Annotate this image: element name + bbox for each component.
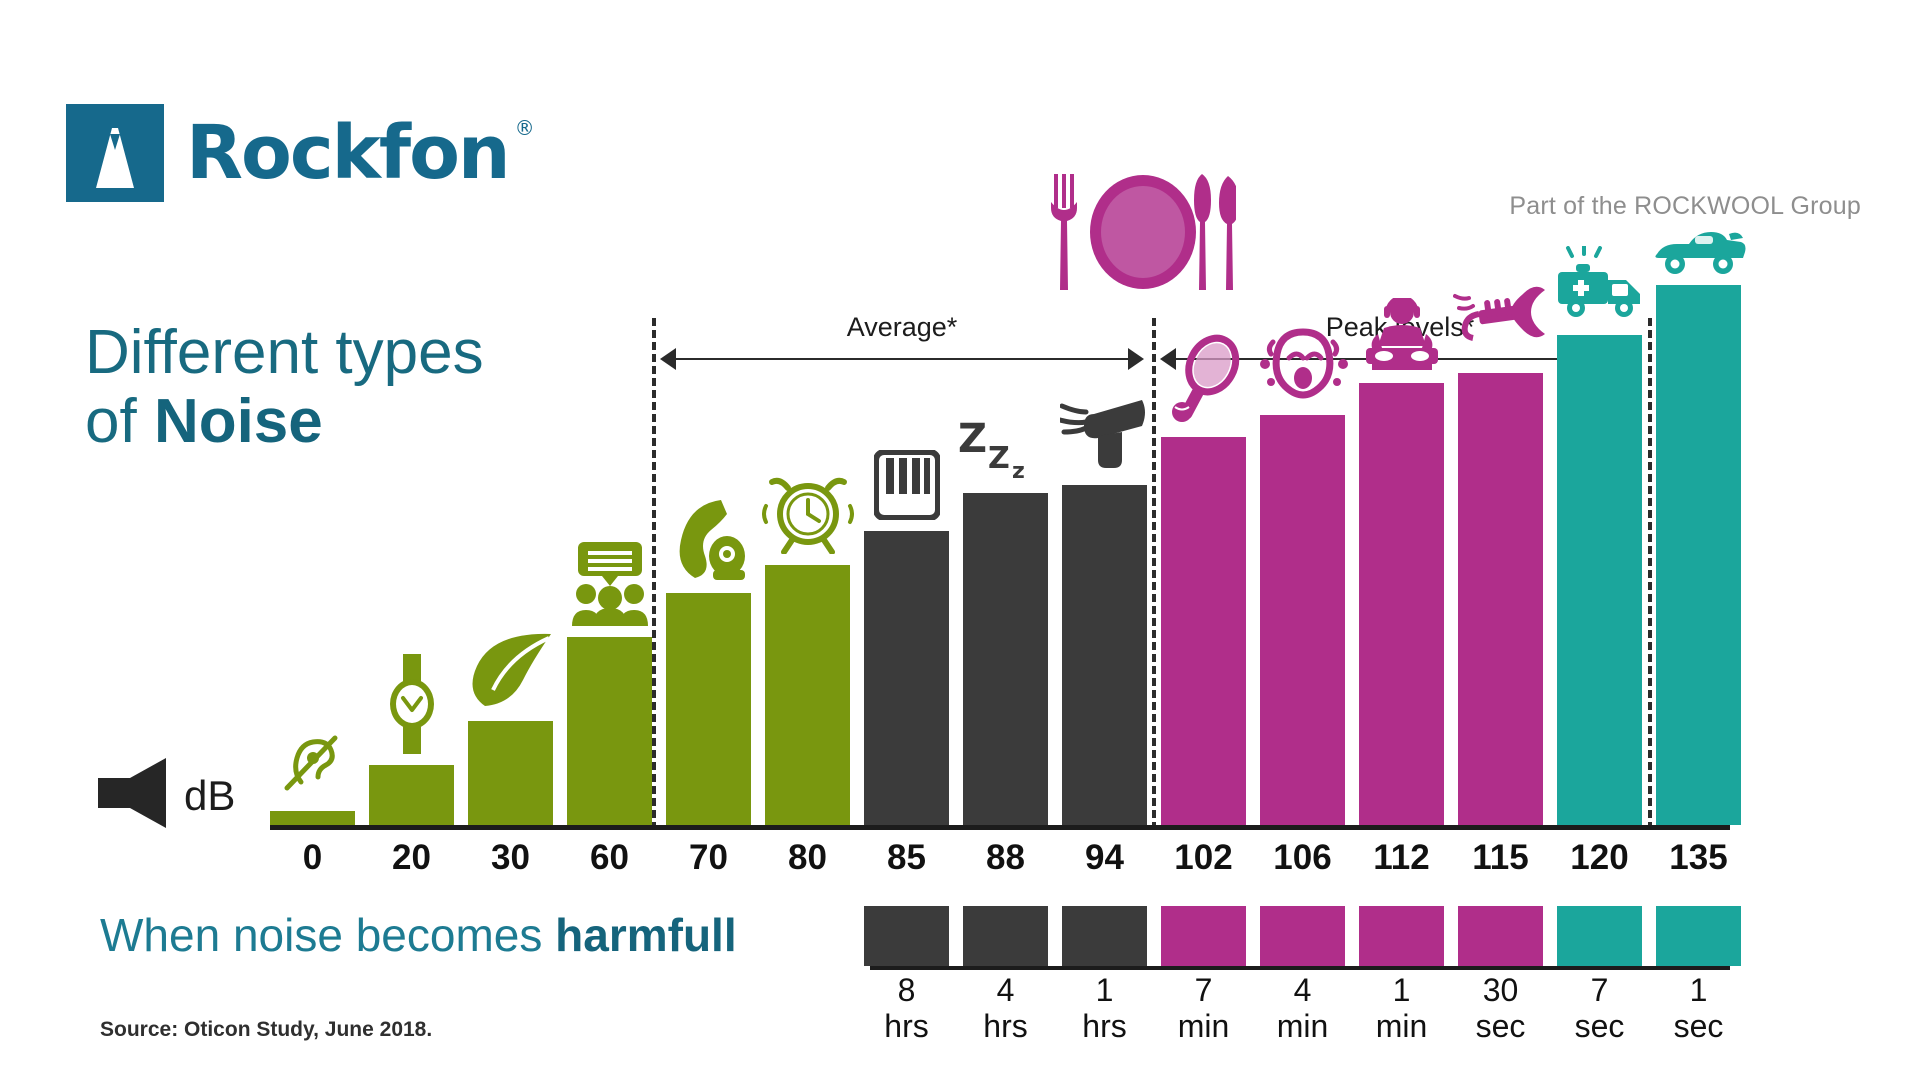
svg-text:Z: Z [958,418,987,462]
bar-column [270,811,355,825]
chart-baseline [270,825,1730,830]
bar-column [1062,485,1147,825]
alarm-clock-icon [762,464,854,559]
duration-unit: hrs [859,1008,954,1044]
bar-column [468,721,553,825]
snoring-zzz-icon: Z Z z [958,418,1054,487]
duration-value: 4 [1255,972,1350,1008]
axis-label-80: 80 [765,838,850,878]
hearing-aid-icon [277,724,349,801]
duration-label-94: 1hrs [1057,972,1152,1045]
source-note: Source: Oticon Study, June 2018. [100,1018,432,1042]
speaker-icon [96,756,174,835]
bar-column [864,531,949,825]
duration-unit: hrs [958,1008,1053,1044]
db-unit-label: dB [184,772,235,820]
duration-value: 1 [1057,972,1152,1008]
axis-label-112: 112 [1359,838,1444,878]
duration-unit: min [1354,1008,1449,1044]
meeting-icon [568,542,652,631]
axis-label-20: 20 [369,838,454,878]
bar-column [1458,373,1543,825]
duration-label-135: 1sec [1651,972,1746,1045]
duration-bar-102 [1161,906,1246,966]
race-car-icon [1651,222,1747,279]
crying-baby-icon [1255,324,1351,409]
infographic-canvas: Rockfon® Part of the ROCKWOOL Group Diff… [0,0,1919,1080]
watch-icon [381,654,443,759]
duration-bar-135 [1656,906,1741,966]
axis-label-115: 115 [1458,838,1543,878]
duration-unit: min [1156,1008,1251,1044]
duration-value: 7 [1552,972,1647,1008]
trumpet-icon [1453,286,1549,367]
duration-bar-88 [963,906,1048,966]
axis-label-85: 85 [864,838,949,878]
duration-label-120: 7sec [1552,972,1647,1045]
duration-unit: hrs [1057,1008,1152,1044]
ambulance-icon [1554,246,1646,329]
axis-label-120: 120 [1557,838,1642,878]
axis-label-135: 135 [1656,838,1741,878]
rockfon-mark-icon [66,104,164,202]
duration-value: 8 [859,972,954,1008]
duration-unit: sec [1651,1008,1746,1044]
exposure-duration-labels: 8hrs 4hrs 1hrs 7min 4min 1min 30sec 7sec… [270,972,1730,1052]
bar-column [963,493,1048,825]
duration-bar-106 [1260,906,1345,966]
bar-column [1359,383,1444,825]
duration-bar-112 [1359,906,1444,966]
svg-text:z: z [1012,459,1025,482]
bar-column [567,637,652,825]
db-unit-group: dB [96,756,235,835]
axis-label-102: 102 [1161,838,1246,878]
axis-label-60: 60 [567,838,652,878]
noise-bar-chart: Z Z z [270,120,1730,830]
axis-label-106: 106 [1260,838,1345,878]
bar-column [765,565,850,825]
duration-label-115: 30sec [1453,972,1548,1045]
axis-label-88: 88 [963,838,1048,878]
duration-value: 4 [958,972,1053,1008]
bar-column [369,765,454,825]
axis-label-30: 30 [468,838,553,878]
duration-unit: min [1255,1008,1350,1044]
axis-label-94: 94 [1062,838,1147,878]
svg-text:Z: Z [988,441,1010,476]
hair-dryer-icon [1060,398,1150,479]
bar-column [1161,437,1246,825]
bar-column [1260,415,1345,825]
axis-label-70: 70 [666,838,751,878]
leaf-icon [465,630,557,715]
exposure-duration-strip [270,898,1730,970]
duration-value: 30 [1453,972,1548,1008]
duration-baseline [870,966,1730,970]
duration-label-112: 1min [1354,972,1449,1045]
db-axis-labels: 0 20 30 60 70 80 85 88 94 102 106 112 11… [270,838,1730,888]
duration-bar-94 [1062,906,1147,966]
duration-bar-120 [1557,906,1642,966]
duration-label-85: 8hrs [859,972,954,1045]
dj-icon [1358,298,1446,377]
duration-label-106: 4min [1255,972,1350,1045]
axis-label-0: 0 [270,838,355,878]
duration-label-102: 7min [1156,972,1251,1045]
bar-column [666,593,751,825]
duration-bar-85 [864,906,949,966]
tennis-racket-icon [1162,332,1246,431]
duration-value: 1 [1651,972,1746,1008]
vacuum-cleaner-icon [669,498,749,587]
duration-unit: sec [1453,1008,1548,1044]
duration-label-88: 4hrs [958,972,1053,1045]
piano-icon [874,450,940,525]
title-line-2-prefix: of [85,387,154,456]
duration-value: 7 [1156,972,1251,1008]
bar-column [1557,335,1642,825]
duration-unit: sec [1552,1008,1647,1044]
bar-column [1656,285,1741,825]
duration-bar-115 [1458,906,1543,966]
duration-value: 1 [1354,972,1449,1008]
